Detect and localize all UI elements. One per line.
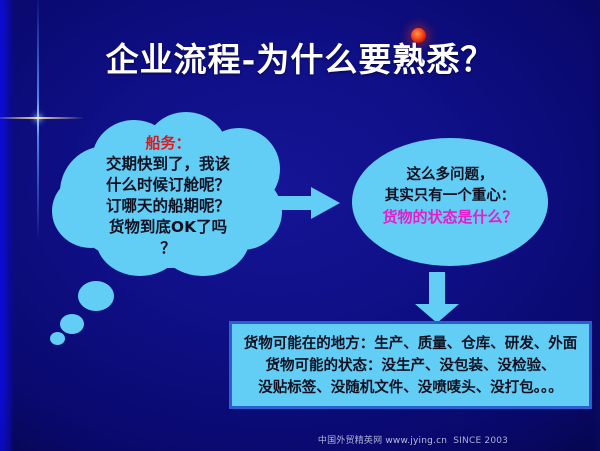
- thought-trail-bubble-large: [78, 281, 114, 311]
- detail-line: 货物可能的状态：没生产、没包装、没检验、: [236, 355, 585, 377]
- arrow-right-icon: [261, 186, 341, 220]
- footer: 中国外贸精英网 www.jying.cn SINCE 2003: [0, 428, 600, 447]
- thought-trail-bubble-medium: [60, 314, 84, 334]
- thought-bubble-line: 货物到底OK了吗: [66, 217, 270, 238]
- detail-line: 货物可能在的地方：生产、质量、仓库、研发、外面: [236, 333, 585, 355]
- thought-bubble-line: ？: [66, 238, 270, 259]
- answer-ellipse: 这么多问题， 其实只有一个重心： 货物的状态是什么？: [352, 138, 548, 266]
- answer-ellipse-text: 这么多问题， 其实只有一个重心： 货物的状态是什么？: [362, 165, 538, 228]
- detail-box-text: 货物可能在的地方：生产、质量、仓库、研发、外面 货物可能的状态：没生产、没包装、…: [236, 333, 585, 399]
- footer-since: SINCE 2003: [453, 436, 508, 446]
- thought-bubble-text: 船务： 交期快到了，我该 什么时候订舱呢？ 订哪天的船期呢？ 货物到底OK了吗 …: [66, 133, 270, 259]
- slide-canvas: 企业流程-为什么要熟悉？ 船务： 交期快到了，我该 什么时候订舱呢？ 订哪天的船…: [0, 0, 600, 451]
- footer-site-name: 中国外贸精英网: [318, 436, 382, 446]
- detail-box: 货物可能在的地方：生产、质量、仓库、研发、外面 货物可能的状态：没生产、没包装、…: [229, 321, 592, 409]
- thought-bubble-line: 交期快到了，我该: [66, 154, 270, 175]
- footer-inner: 中国外贸精英网 www.jying.cn SINCE 2003: [318, 433, 508, 446]
- answer-line: 其实只有一个重心：: [362, 186, 538, 207]
- footer-url[interactable]: www.jying.cn: [385, 436, 447, 446]
- detail-line: 没贴标签、没随机文件、没喷唛头、没打包。。。: [236, 377, 585, 399]
- star-cross-vertical-line: [37, 0, 39, 238]
- thought-bubble-line: 订哪天的船期呢？: [66, 196, 270, 217]
- thought-bubble: 船务： 交期快到了，我该 什么时候订舱呢？ 订哪天的船期呢？ 货物到底OK了吗 …: [52, 112, 284, 280]
- thought-bubble-line: 什么时候订舱呢？: [66, 175, 270, 196]
- thought-bubble-role-label: 船务：: [66, 133, 270, 153]
- answer-line: 这么多问题，: [362, 165, 538, 186]
- arrow-down-icon: [414, 272, 460, 324]
- thought-trail-bubble-small: [50, 332, 65, 345]
- answer-highlight-line: 货物的状态是什么？: [362, 207, 538, 228]
- page-title: 企业流程-为什么要熟悉？: [0, 40, 600, 80]
